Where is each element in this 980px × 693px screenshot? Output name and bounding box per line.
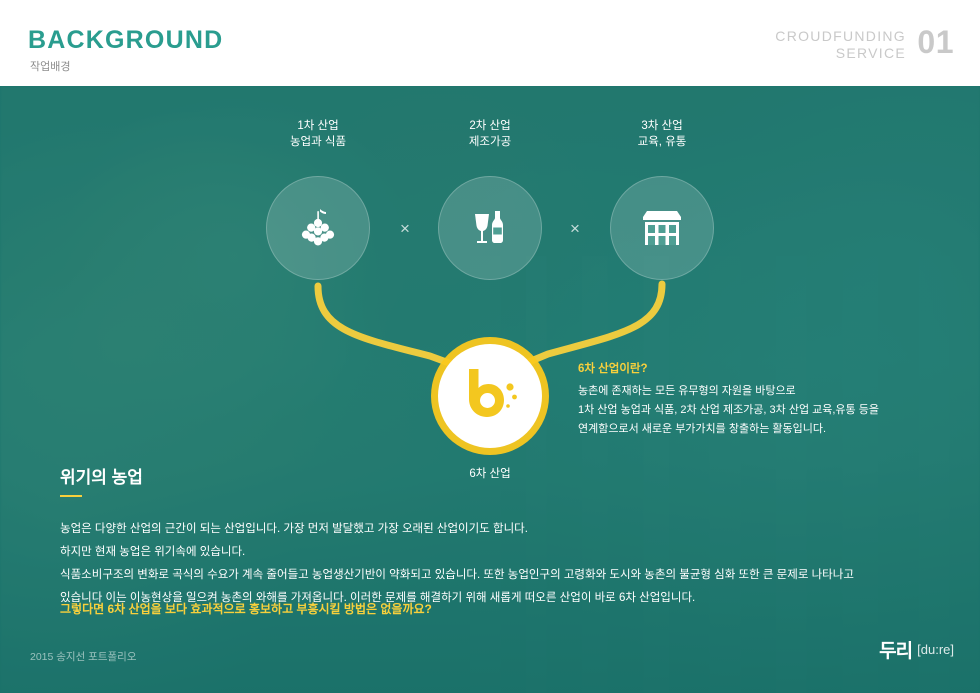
slide-number: 01	[917, 24, 954, 61]
slide-body: 1차 산업 농업과 식품	[0, 86, 980, 693]
node-3-label: 3차 산업 교육, 유통	[582, 118, 742, 150]
wine-bottle-icon	[468, 205, 512, 251]
section-heading: 위기의 농업	[60, 463, 143, 488]
node-1-label: 1차 산업 농업과 식품	[238, 118, 398, 150]
footer-credit: 2015 송지선 포트폴리오	[30, 649, 136, 664]
body-paragraph: 농업은 다양한 산업의 근간이 되는 산업입니다. 가장 먼저 발달했고 가장 …	[60, 518, 940, 610]
page-subtitle: 작업배경	[30, 58, 70, 74]
node-1-label-line1: 1차 산업	[238, 118, 398, 134]
info-line-2: 1차 산업 농업과 식품, 2차 산업 제조가공, 3차 산업 교육,유통 등을	[578, 401, 908, 420]
info-body: 농촌에 존재하는 모든 유무형의 자원을 바탕으로 1차 산업 농업과 식품, …	[578, 382, 908, 439]
paragraph-line-2: 하지만 현재 농업은 위기속에 있습니다.	[60, 541, 940, 564]
b-logo-icon	[457, 365, 523, 427]
slide: BACKGROUND 작업배경 CROUDFUNDING SERVICE 01 …	[0, 0, 980, 693]
header-section-label: CROUDFUNDING SERVICE	[775, 28, 906, 62]
info-title: 6차 산업이란?	[578, 360, 648, 376]
slide-header: BACKGROUND 작업배경 CROUDFUNDING SERVICE 01	[0, 0, 980, 86]
header-section-line2: SERVICE	[775, 45, 906, 62]
node-3-label-line2: 교육, 유통	[582, 134, 742, 150]
brand-logo-english: [du:re]	[917, 642, 954, 657]
paragraph-line-3: 식품소비구조의 변화로 곡식의 수요가 계속 줄어들고 농업생산기반이 약화되고…	[60, 564, 940, 587]
paragraph-line-1: 농업은 다양한 산업의 근간이 되는 산업입니다. 가장 먼저 발달했고 가장 …	[60, 518, 940, 541]
header-section-line1: CROUDFUNDING	[775, 28, 906, 45]
node-2-label-line1: 2차 산업	[410, 118, 570, 134]
highlight-question: 그렇다면 6차 산업을 보다 효과적으로 홍보하고 부흥시킬 방법은 없을까요?	[60, 600, 432, 617]
operator-multiply-2: ×	[570, 219, 580, 239]
node-2-label-line2: 제조가공	[410, 134, 570, 150]
info-line-1: 농촌에 존재하는 모든 유무형의 자원을 바탕으로	[578, 382, 908, 401]
operator-multiply-1: ×	[400, 219, 410, 239]
node-1-circle	[266, 176, 370, 280]
node-2-circle	[438, 176, 542, 280]
heading-underline-rule	[60, 495, 82, 497]
node-3-circle	[610, 176, 714, 280]
node-3-label-line1: 3차 산업	[582, 118, 742, 134]
brand-logo: 두리 [du:re]	[879, 636, 954, 663]
page-title: BACKGROUND	[28, 26, 223, 55]
grapes-icon	[295, 205, 341, 251]
node-1-label-line2: 농업과 식품	[238, 134, 398, 150]
node-2-label: 2차 산업 제조가공	[410, 118, 570, 150]
storefront-icon	[637, 205, 687, 251]
brand-logo-korean: 두리	[879, 636, 912, 663]
info-line-3: 연계함으로서 새로운 부가가치를 창출하는 활동입니다.	[578, 420, 908, 439]
center-circle	[438, 344, 542, 448]
center-label: 6차 산업	[410, 465, 570, 481]
